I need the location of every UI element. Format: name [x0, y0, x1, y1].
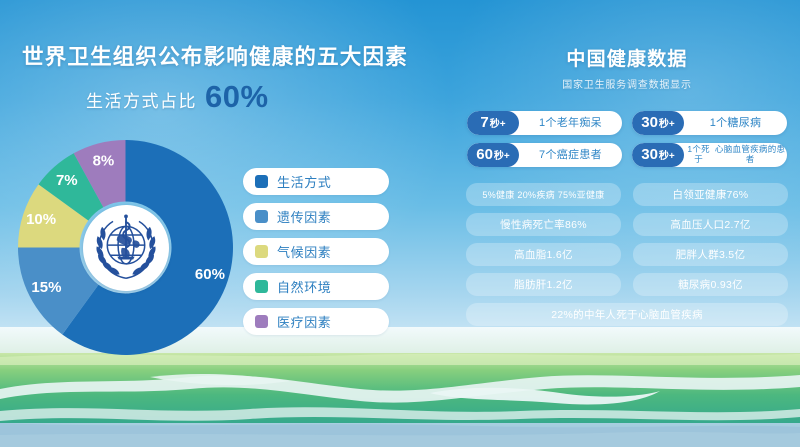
stat-pill-value: 1个老年痴呆	[519, 111, 622, 135]
stat-pill-number: 60	[476, 143, 493, 167]
right-panel-title: 中国健康数据	[462, 44, 792, 71]
stat-pill-value: 1个死于 心脑血管疾病的患者	[684, 143, 787, 167]
slice-label-genetics: 15%	[31, 279, 61, 296]
stat-pill-key: 30 秒+	[632, 143, 684, 167]
slice-label-medical: 8%	[93, 153, 115, 170]
infographic-canvas: 世界卫生组织公布影响健康的五大因素 生活方式占比 60% 60% 15% 10%…	[0, 0, 800, 447]
who-emblem	[83, 205, 169, 291]
stat-pill-unit: 秒+	[494, 145, 510, 167]
data-chip[interactable]: 脂肪肝1.2亿	[466, 273, 621, 296]
stat-pill-grid: 7 秒+ 1个老年痴呆 30 秒+ 1个糖尿病 60 秒+ 7个癌症患者	[462, 111, 792, 167]
data-chip[interactable]: 糖尿病0.93亿	[633, 273, 788, 296]
stat-pill[interactable]: 30 秒+ 1个糖尿病	[632, 111, 787, 135]
stat-pill-key: 7 秒+	[467, 111, 519, 135]
left-panel: 世界卫生组织公布影响健康的五大因素 生活方式占比 60%	[0, 40, 430, 112]
right-panel-subtitle: 国家卫生服务调查数据显示	[462, 76, 792, 91]
data-chip[interactable]: 肥胖人群3.5亿	[633, 243, 788, 266]
data-chip-grid: 5%健康 20%疾病 75%亚健康 白领亚健康76% 慢性病死亡率86% 高血压…	[462, 183, 792, 296]
donut-chart: 60% 15% 10% 7% 8%	[18, 140, 233, 355]
stat-pill-number: 7	[480, 111, 488, 135]
legend-label-medical: 医疗因素	[277, 312, 331, 331]
data-chip[interactable]: 慢性病死亡率86%	[466, 213, 621, 236]
data-chip[interactable]: 白领亚健康76%	[633, 183, 788, 206]
stat-pill[interactable]: 30 秒+ 1个死于 心脑血管疾病的患者	[632, 143, 787, 167]
subtitle-line: 生活方式占比 60%	[86, 81, 430, 112]
stat-pill-value: 7个癌症患者	[519, 143, 622, 167]
who-emblem-svg	[90, 212, 162, 284]
legend-item-0[interactable]: 生活方式	[243, 168, 389, 195]
stat-pill-unit: 秒+	[490, 113, 506, 135]
legend-label-climate: 气候因素	[277, 242, 331, 261]
data-chip[interactable]: 高血脂1.6亿	[466, 243, 621, 266]
subtitle-text: 生活方式占比	[86, 87, 197, 112]
legend-swatch-genetics	[255, 210, 268, 223]
stat-pill-unit: 秒+	[659, 113, 675, 135]
stat-pill[interactable]: 7 秒+ 1个老年痴呆	[467, 111, 622, 135]
legend-item-2[interactable]: 气候因素	[243, 238, 389, 265]
legend-swatch-medical	[255, 315, 268, 328]
legend-item-1[interactable]: 遗传因素	[243, 203, 389, 230]
stat-pill-key: 30 秒+	[632, 111, 684, 135]
legend-swatch-lifestyle	[255, 175, 268, 188]
stat-pill-key: 60 秒+	[467, 143, 519, 167]
subtitle-value: 60%	[205, 81, 269, 112]
data-chip[interactable]: 高血压人口2.7亿	[633, 213, 788, 236]
slice-label-lifestyle: 60%	[195, 266, 225, 283]
chart-legend: 生活方式 遗传因素 气候因素 自然环境 医疗因素	[243, 168, 403, 343]
right-panel: 中国健康数据 国家卫生服务调查数据显示 7 秒+ 1个老年痴呆 30 秒+ 1个…	[462, 44, 792, 326]
stat-pill-number: 30	[641, 143, 658, 167]
legend-swatch-climate	[255, 245, 268, 258]
data-chip[interactable]: 5%健康 20%疾病 75%亚健康	[466, 183, 621, 206]
stat-pill[interactable]: 60 秒+ 7个癌症患者	[467, 143, 622, 167]
slice-label-climate: 10%	[26, 211, 56, 228]
stat-pill-unit: 秒+	[659, 145, 675, 167]
stat-pill-value-line1: 1个死于	[684, 145, 713, 165]
stat-pill-value: 1个糖尿病	[684, 111, 787, 135]
legend-item-3[interactable]: 自然环境	[243, 273, 389, 300]
slice-label-environment: 7%	[56, 172, 78, 189]
legend-label-genetics: 遗传因素	[277, 207, 331, 226]
legend-label-lifestyle: 生活方式	[277, 172, 331, 191]
legend-item-4[interactable]: 医疗因素	[243, 308, 389, 335]
footer-chip[interactable]: 22%的中年人死于心脑血管疾病	[466, 303, 788, 326]
legend-swatch-environment	[255, 280, 268, 293]
legend-label-environment: 自然环境	[277, 277, 331, 296]
stat-pill-value-line2: 心脑血管疾病的患者	[713, 145, 787, 165]
stat-pill-number: 30	[641, 111, 658, 135]
page-title: 世界卫生组织公布影响健康的五大因素	[22, 40, 430, 71]
